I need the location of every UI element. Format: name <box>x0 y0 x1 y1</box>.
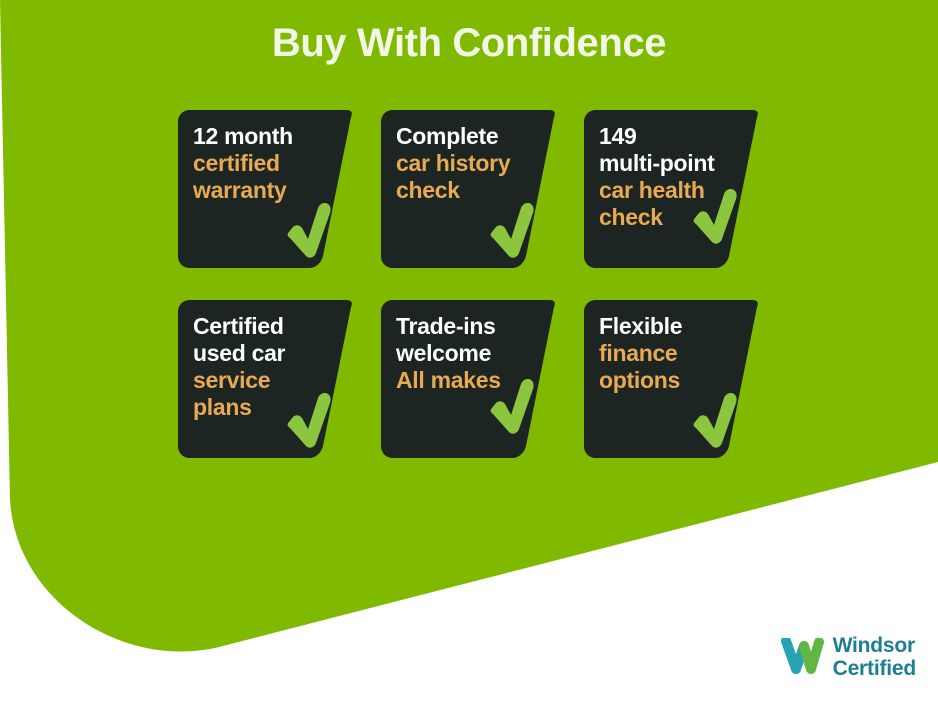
card-line-primary: Complete <box>396 123 546 150</box>
windsor-w-icon <box>780 638 824 676</box>
card-line-accent-1: finance <box>599 340 749 367</box>
benefit-card-multi-point-check[interactable]: 149 multi-point car health check <box>584 110 759 268</box>
benefit-card-flexible-finance[interactable]: Flexible finance options <box>584 300 759 458</box>
logo-text-line-1: Windsor <box>833 634 916 657</box>
card-line-primary-2: used car <box>193 340 343 367</box>
check-icon <box>285 392 331 448</box>
card-line-accent-2: options <box>599 367 749 394</box>
card-line-accent-1: car history <box>396 150 546 177</box>
page-title: Buy With Confidence <box>0 18 938 68</box>
card-line-accent-1: service <box>193 367 343 394</box>
card-line-accent-2: check <box>396 177 546 204</box>
card-line-primary: Flexible <box>599 313 749 340</box>
card-line-primary: 12 month <box>193 123 343 150</box>
card-line-accent-1: certified <box>193 150 343 177</box>
benefit-card-service-plans[interactable]: Certified used car service plans <box>178 300 353 458</box>
card-line-primary-1: Trade-ins <box>396 313 546 340</box>
check-icon <box>488 378 534 434</box>
benefit-card-row: Certified used car service plans Trade-i… <box>178 300 760 458</box>
card-text-block: 12 month certified warranty <box>178 110 353 204</box>
card-line-primary-2: welcome <box>396 340 546 367</box>
benefit-card-trade-ins[interactable]: Trade-ins welcome All makes <box>381 300 556 458</box>
logo-text-line-2: Certified <box>833 657 916 680</box>
benefit-card-car-history-check[interactable]: Complete car history check <box>381 110 556 268</box>
check-icon <box>691 188 737 244</box>
windsor-certified-logo[interactable]: Windsor Certified <box>780 634 916 680</box>
card-text-block: Flexible finance options <box>584 300 759 394</box>
benefit-card-grid: 12 month certified warranty Complete car… <box>178 110 760 490</box>
card-text-block: Complete car history check <box>381 110 556 204</box>
logo-wordmark: Windsor Certified <box>833 634 916 680</box>
card-line-primary-1: 149 <box>599 123 749 150</box>
card-line-primary-1: Certified <box>193 313 343 340</box>
card-line-accent-2: warranty <box>193 177 343 204</box>
check-icon <box>285 202 331 258</box>
card-line-primary-2: multi-point <box>599 150 749 177</box>
check-icon <box>488 202 534 258</box>
benefit-card-row: 12 month certified warranty Complete car… <box>178 110 760 268</box>
check-icon <box>691 392 737 448</box>
poster-canvas: Buy With Confidence 12 month certified w… <box>0 0 938 704</box>
benefit-card-certified-warranty[interactable]: 12 month certified warranty <box>178 110 353 268</box>
